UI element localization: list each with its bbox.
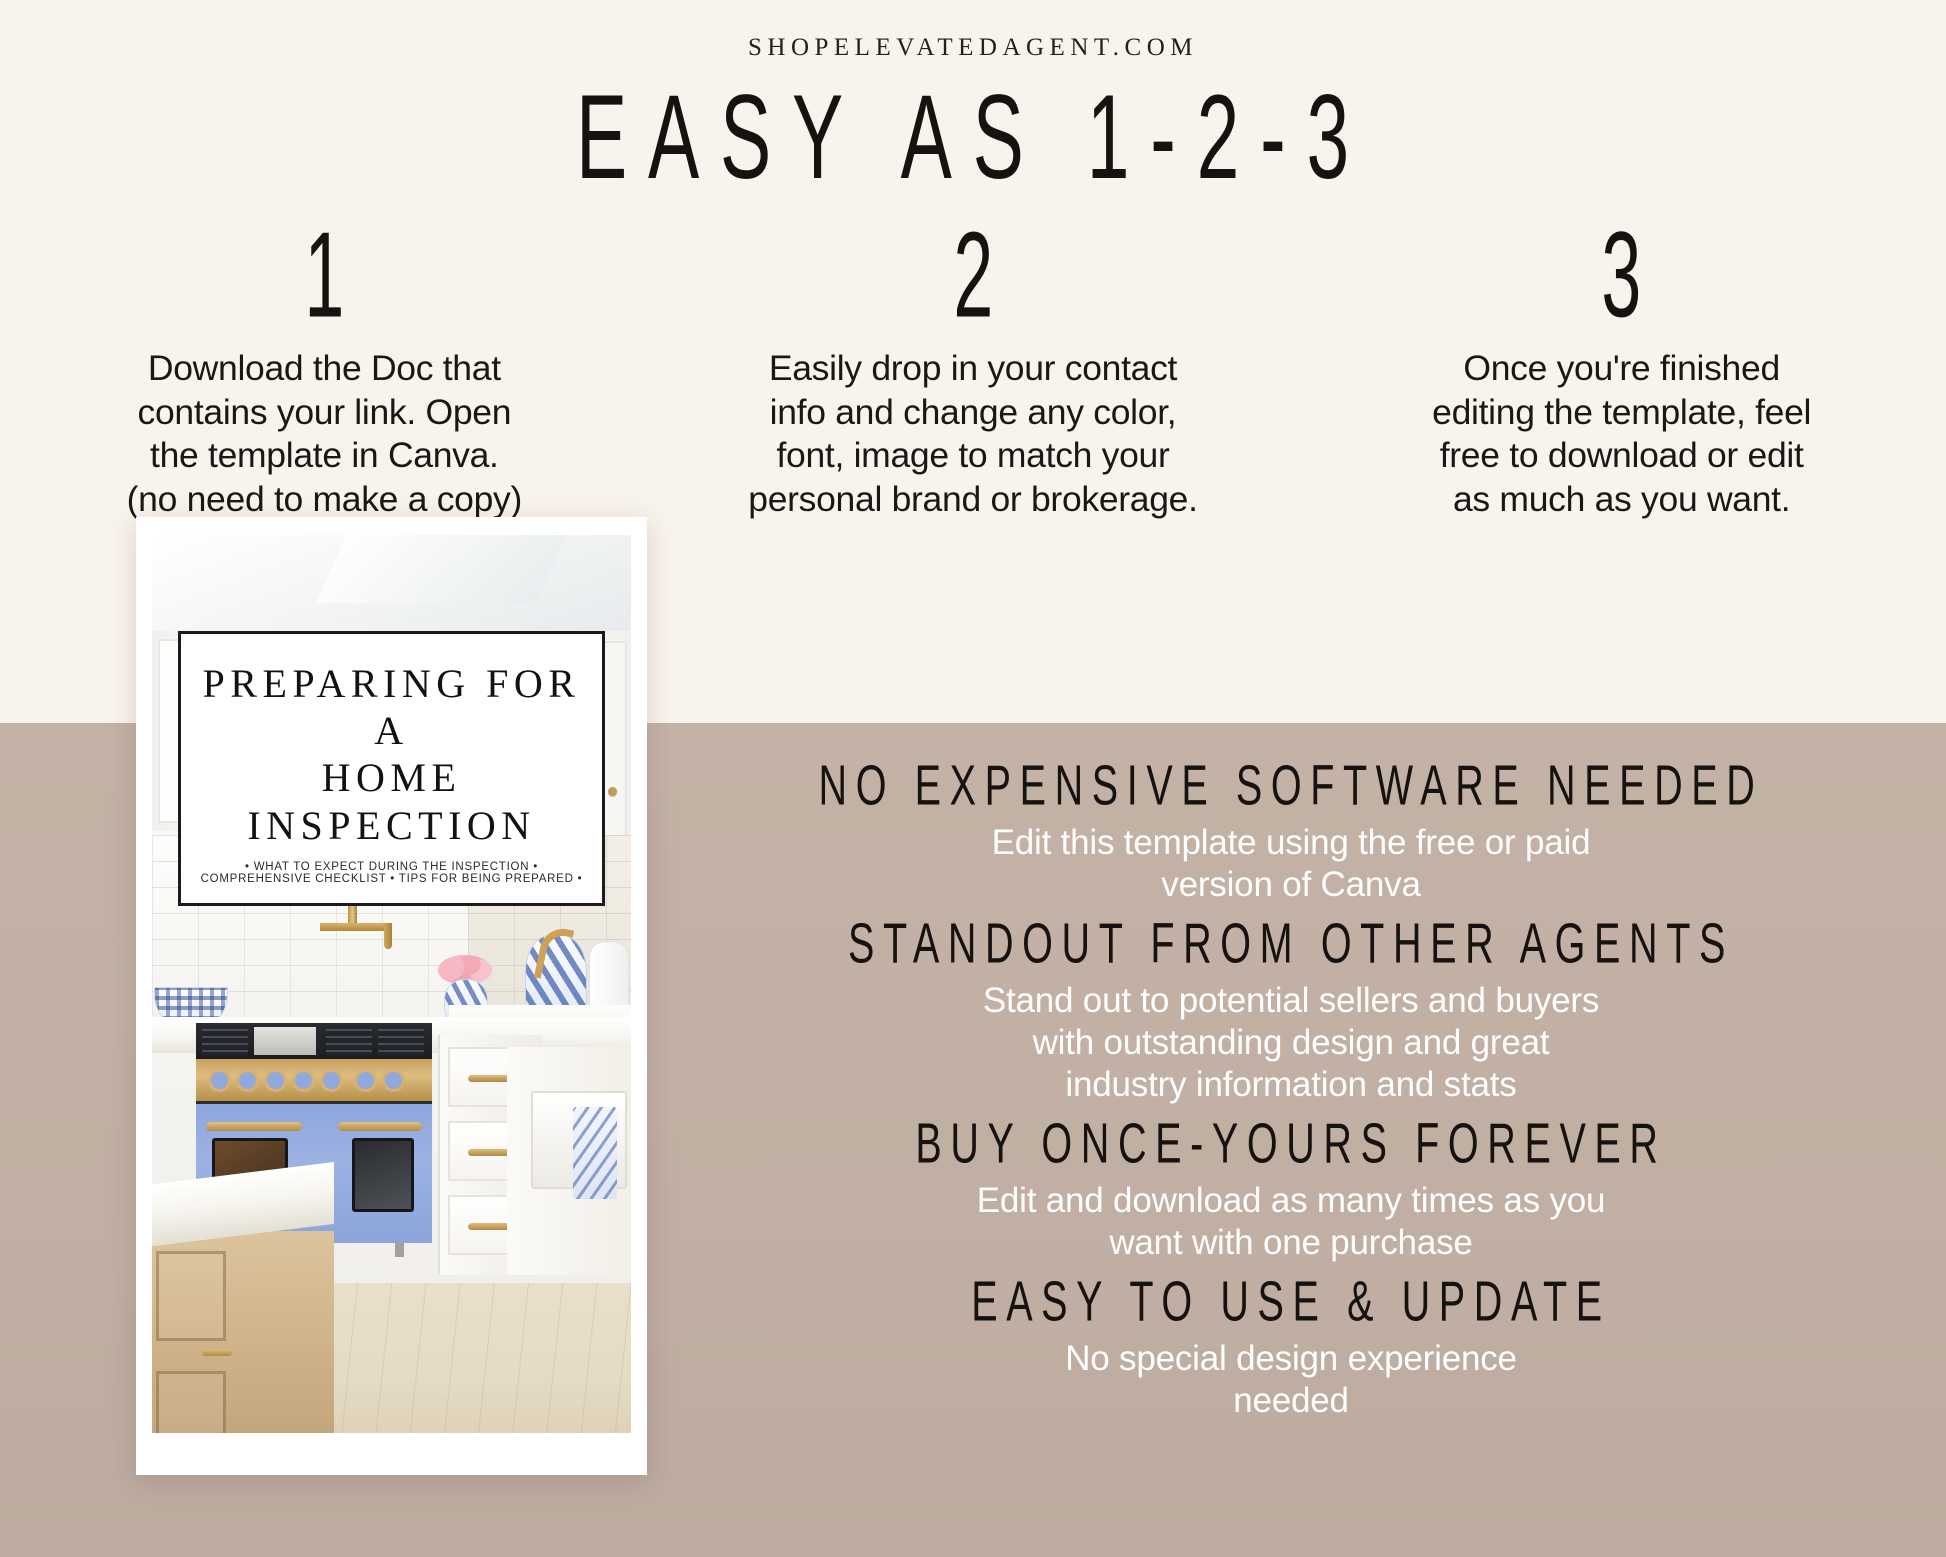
step-item-1: 1 Download the Doc that contains your li…: [0, 215, 649, 522]
feature-item-4: EASY TO USE & UPDATE No special design e…: [686, 1278, 1896, 1422]
step-text-3: Once you're finished editing the templat…: [1315, 347, 1928, 522]
cover-title-plaque: PREPARING FOR A HOME INSPECTION • WHAT T…: [178, 631, 605, 906]
step-text-2: Easily drop in your contact info and cha…: [667, 347, 1280, 522]
feature-body-2: Stand out to potential sellers and buyer…: [686, 980, 1896, 1106]
step-number-1: 1: [85, 215, 563, 358]
page-title: EASY AS 1-2-3: [195, 78, 1752, 198]
feature-heading-2: STANDOUT FROM OTHER AGENTS: [771, 915, 1812, 971]
site-url: SHOPELEVATEDAGENT.COM: [0, 34, 1946, 62]
cover-subtitle: • WHAT TO EXPECT DURING THE INSPECTION •…: [195, 861, 588, 885]
cover-title: PREPARING FOR A HOME INSPECTION: [195, 660, 588, 849]
feature-heading-1: NO EXPENSIVE SOFTWARE NEEDED: [771, 757, 1812, 813]
steps-row: 1 Download the Doc that contains your li…: [0, 215, 1946, 522]
blue-dish-towel: [573, 1107, 617, 1199]
pot-filler-spout: [384, 923, 392, 949]
step-item-3: 3 Once you're finished editing the templ…: [1297, 215, 1946, 522]
feature-heading-4: EASY TO USE & UPDATE: [771, 1273, 1812, 1329]
feature-body-3: Edit and download as many times as you w…: [686, 1180, 1896, 1264]
feature-item-3: BUY ONCE-YOURS FOREVER Edit and download…: [686, 1120, 1896, 1264]
pot-filler-arm: [320, 923, 392, 931]
kitchen-ceiling: [152, 535, 631, 640]
step-text-1: Download the Doc that contains your link…: [18, 347, 631, 522]
feature-body-1: Edit this template using the free or pai…: [686, 822, 1896, 906]
features-list: NO EXPENSIVE SOFTWARE NEEDED Edit this t…: [686, 762, 1896, 1436]
step-number-2: 2: [734, 215, 1212, 358]
book-mockup: FRANCE: [136, 517, 647, 1475]
step-item-2: 2 Easily drop in your contact info and c…: [649, 215, 1298, 522]
feature-item-1: NO EXPENSIVE SOFTWARE NEEDED Edit this t…: [686, 762, 1896, 906]
step-number-3: 3: [1383, 215, 1861, 358]
feature-body-4: No special design experience needed: [686, 1338, 1896, 1422]
feature-item-2: STANDOUT FROM OTHER AGENTS Stand out to …: [686, 920, 1896, 1106]
kitchen-photo: FRANCE: [152, 535, 631, 1433]
feature-heading-3: BUY ONCE-YOURS FOREVER: [771, 1115, 1812, 1171]
kitchen-island: [152, 1175, 334, 1433]
